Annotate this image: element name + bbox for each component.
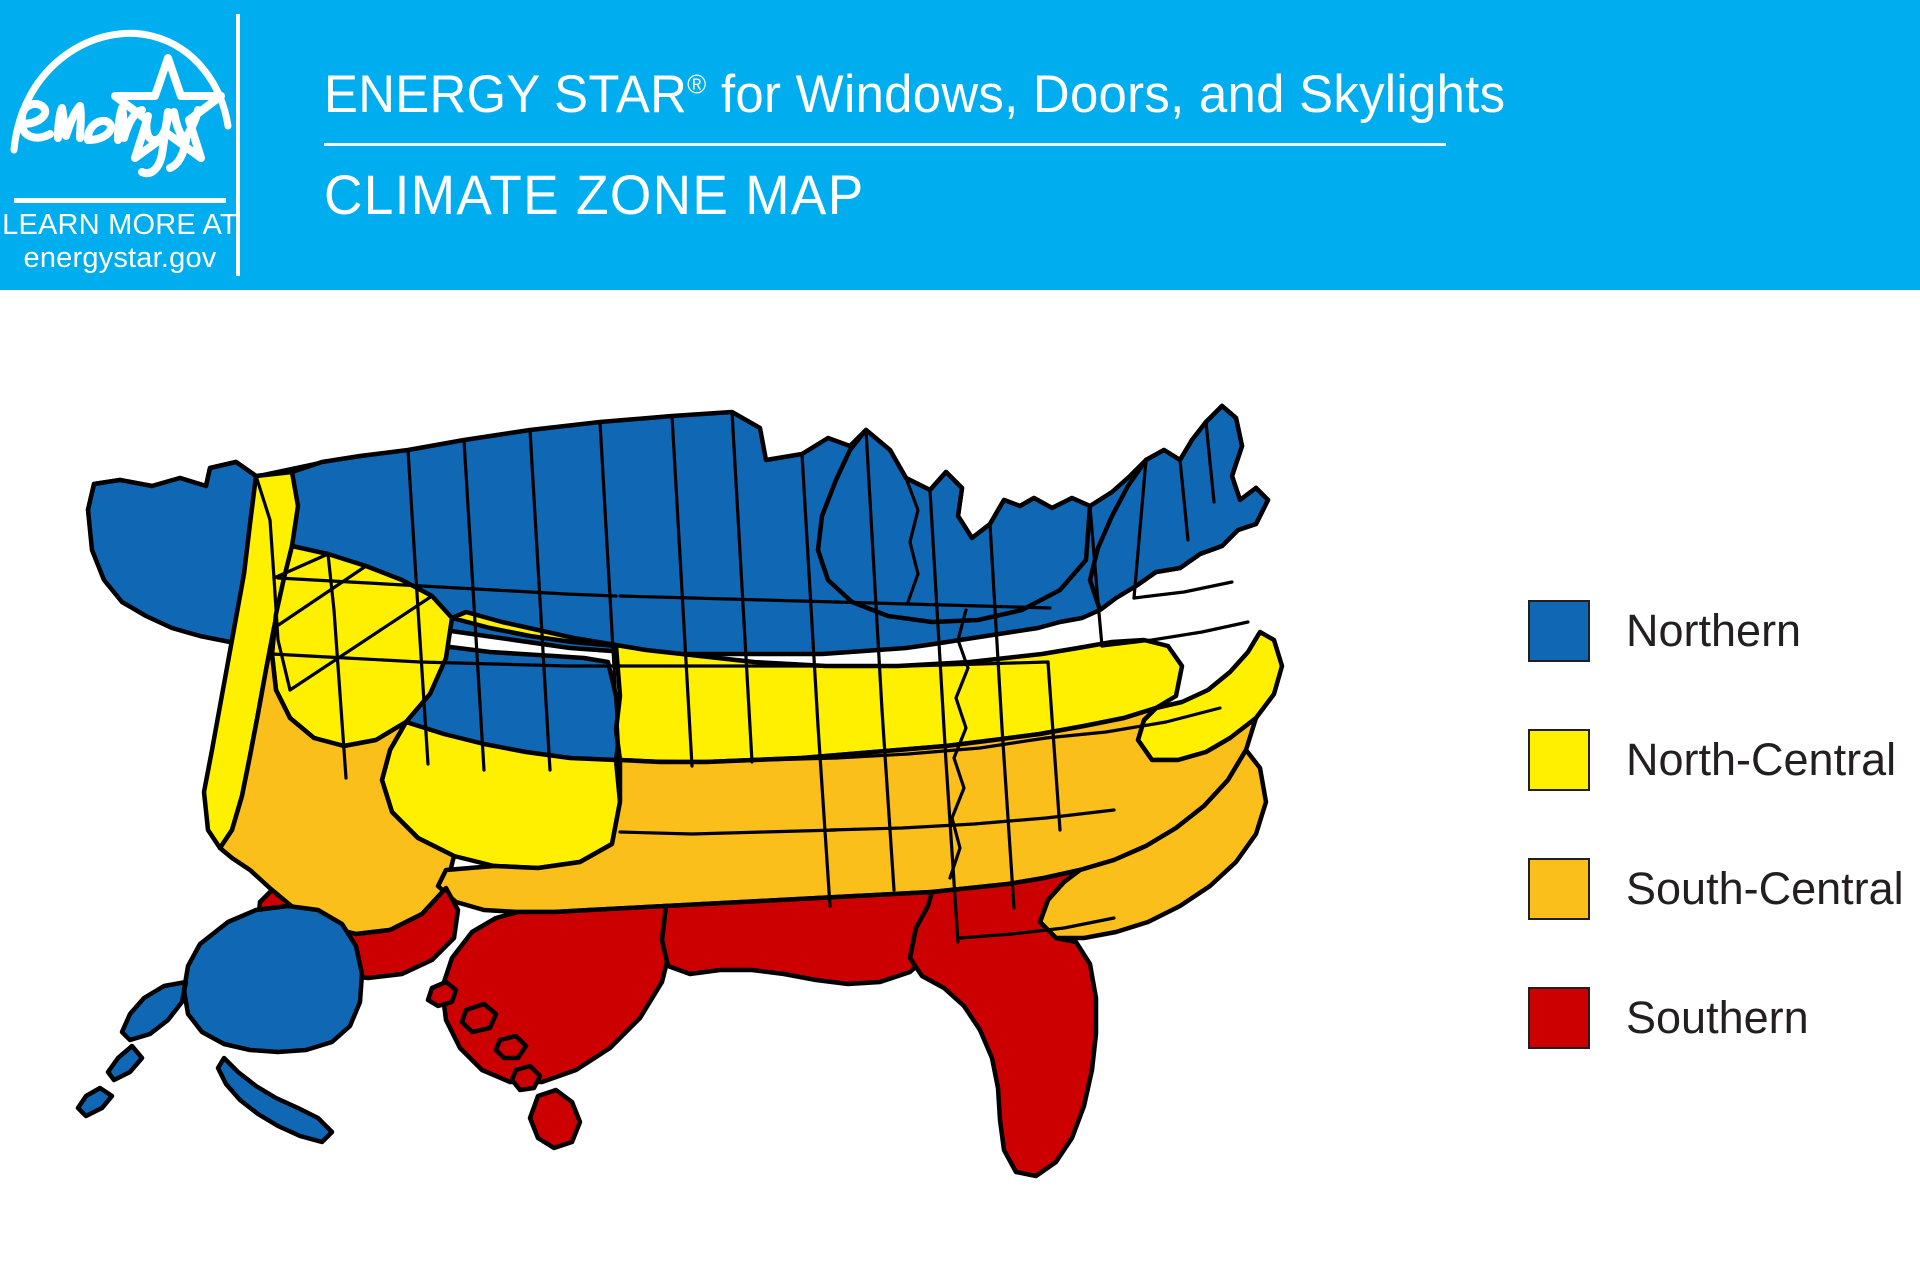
legend-swatch-south-central [1528, 858, 1590, 920]
legend-item-southern[interactable]: Southern [1528, 985, 1908, 1051]
zone-southern-gulf [662, 892, 940, 984]
logo-tagline: LEARN MORE AT energystar.gov [2, 209, 238, 275]
logo-tagline-line1: LEARN MORE AT [2, 209, 238, 241]
legend-item-south-central[interactable]: South-Central [1528, 856, 1908, 922]
united-states-climate-zone-map[interactable] [60, 310, 1520, 1250]
legend-item-north-central[interactable]: North-Central [1528, 727, 1908, 793]
energy-star-logo-block[interactable]: LEARN MORE AT energystar.gov [0, 0, 240, 290]
legend-label-south-central: South-Central [1626, 865, 1904, 913]
zone-northern-northeast [1090, 406, 1268, 610]
legend-swatch-north-central [1528, 729, 1590, 791]
page-title: ENERGY STAR® for Windows, Doors, and Sky… [324, 65, 1856, 125]
header-divider [324, 143, 1446, 146]
logo-divider [14, 198, 226, 203]
zone-southern-texas [442, 906, 672, 1082]
legend-swatch-northern [1528, 600, 1590, 662]
map-area: Northern North-Central South-Central Sou… [0, 290, 1920, 1265]
legend-label-northern: Northern [1626, 607, 1801, 655]
registered-trademark-icon: ® [687, 69, 706, 99]
page-subtitle: CLIMATE ZONE MAP [324, 164, 1840, 226]
page-title-suffix: for Windows, Doors, and Skylights [707, 65, 1506, 124]
energy-star-mark-icon [0, 0, 240, 198]
logo-tagline-line2: energystar.gov [2, 242, 238, 275]
header-text-block: ENERGY STAR® for Windows, Doors, and Sky… [240, 0, 1920, 290]
legend-label-north-central: North-Central [1626, 736, 1896, 784]
header-bar: LEARN MORE AT energystar.gov ENERGY STAR… [0, 0, 1920, 290]
legend-swatch-southern [1528, 987, 1590, 1049]
legend-label-southern: Southern [1626, 994, 1809, 1042]
zone-northern-great-lakes [818, 430, 1090, 622]
legend: Northern North-Central South-Central Sou… [1528, 598, 1908, 1051]
legend-item-northern[interactable]: Northern [1528, 598, 1908, 664]
map-inset-alaska [78, 906, 362, 1142]
page-title-prefix: ENERGY STAR [324, 65, 687, 124]
